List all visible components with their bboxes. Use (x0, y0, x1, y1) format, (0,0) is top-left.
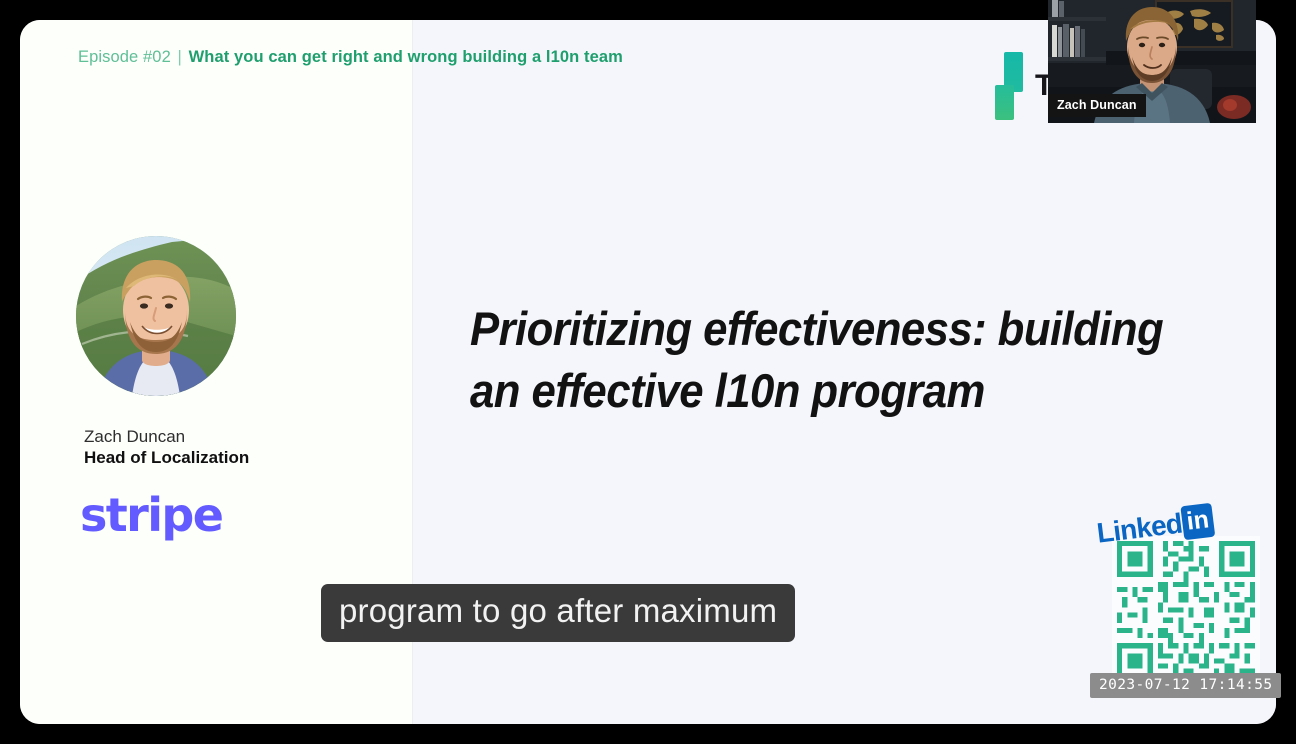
recording-timestamp: 2023-07-12 17:14:55 (1090, 673, 1281, 698)
company-wordmark: stripe (80, 492, 222, 538)
episode-label: Episode #02 (78, 48, 171, 66)
screen-recording-frame: Episode #02 | What you can get right and… (0, 0, 1296, 744)
slide-header: Episode #02 | What you can get right and… (78, 48, 623, 67)
caption-bar: program to go after maximum (321, 584, 795, 642)
page-title: Prioritizing effectiveness: building an … (470, 298, 1177, 422)
webcam-name-tag: Zach Duncan (1048, 94, 1146, 117)
webcam-video-overlay[interactable]: Zach Duncan (1048, 0, 1256, 123)
qr-code-icon (1112, 536, 1260, 684)
offset-bar-bottom (995, 85, 1014, 120)
episode-topic: What you can get right and wrong buildin… (189, 48, 623, 66)
header-separator: | (176, 48, 184, 66)
avatar (76, 236, 236, 396)
offset-bars-icon (995, 52, 1023, 120)
caption-text: program to go after maximum (339, 593, 777, 630)
linkedin-in-icon: in (1181, 503, 1215, 540)
speaker-role: Head of Localization (84, 448, 249, 468)
speaker-name: Zach Duncan (84, 427, 185, 447)
